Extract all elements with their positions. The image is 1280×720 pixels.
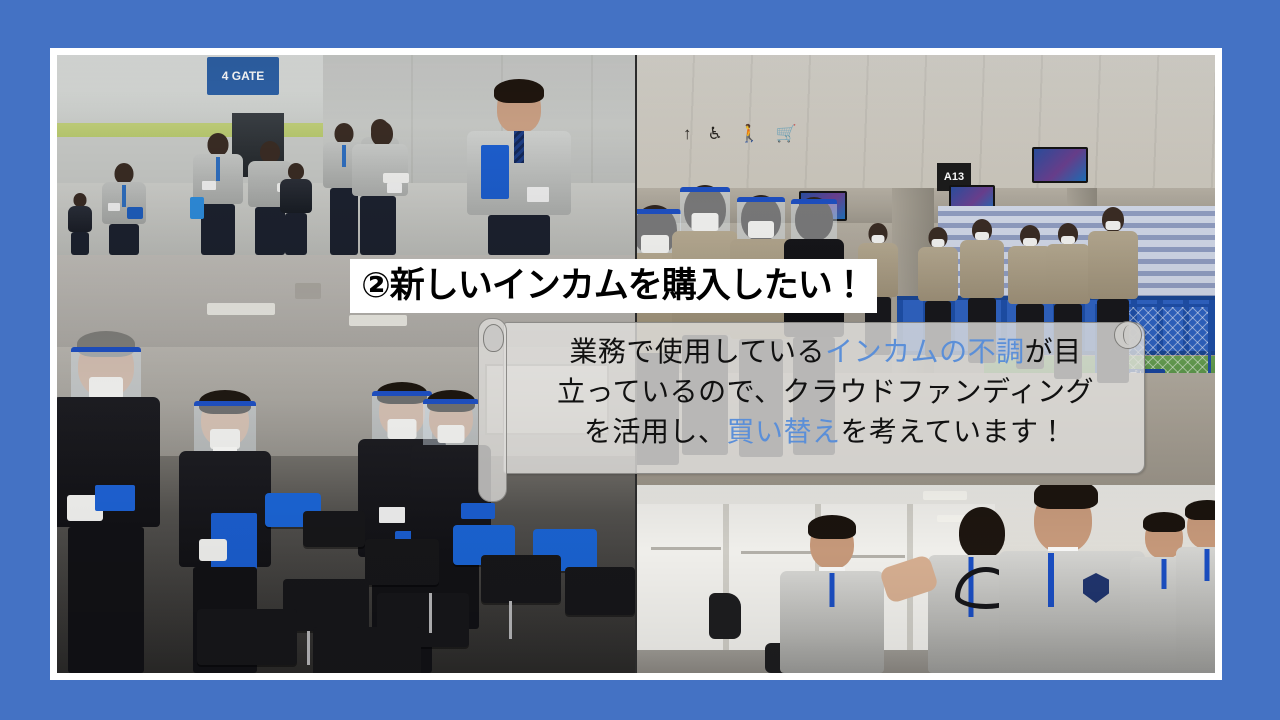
staff-figure	[347, 119, 407, 255]
staff-figure	[279, 163, 313, 255]
display-monitor	[1032, 147, 1088, 183]
body-phrase: 業務で使用している	[569, 335, 825, 368]
chair-leg	[429, 593, 432, 633]
person-icon: 🚶	[739, 125, 760, 142]
scroll-body-text: 業務で使用しているインカムの不調が目 立っているので、クラウドファンディング を…	[524, 332, 1127, 464]
chair	[565, 567, 635, 615]
highlighted-phrase: インカムの不調	[825, 335, 1025, 368]
ceiling-light	[207, 303, 275, 315]
locker-rail	[651, 547, 721, 550]
staff-figure	[67, 193, 93, 255]
chair-leg	[509, 601, 512, 639]
scroll-callout: 業務で使用しているインカムの不調が目 立っているので、クラウドファンディング を…	[478, 318, 1145, 474]
chair	[313, 627, 421, 673]
scene-locker-room	[637, 485, 1215, 673]
hanging-bag	[709, 593, 741, 639]
gate-sign: 4 GATE	[207, 57, 279, 95]
staff-figure-foreground	[997, 485, 1147, 673]
chair	[197, 609, 297, 665]
staff-figure	[101, 163, 147, 255]
chair	[481, 555, 561, 603]
ceiling-light	[349, 315, 407, 326]
staff-figure-foreground	[465, 83, 573, 255]
body-phrase: を考えています！	[840, 415, 1067, 448]
shop-icon: 🛒	[776, 125, 797, 142]
chair	[303, 511, 365, 547]
wayfinding-pictograms: ↑ ♿ 🚶 🛒	[683, 125, 797, 142]
chair-leg	[307, 631, 310, 665]
photo-bottom-right	[637, 485, 1215, 673]
slide-title: ②新しいインカムを購入したい！	[361, 269, 866, 304]
scene-stadium-exterior: 4 GATE	[57, 55, 635, 255]
highlighted-phrase: 買い替え	[726, 415, 840, 448]
scroll-curl-top-left-icon	[483, 324, 504, 352]
photo-top-left: 4 GATE	[57, 55, 635, 255]
chair	[365, 539, 439, 585]
ceiling-light	[295, 283, 321, 299]
restroom-icon: ♿	[708, 125, 723, 142]
staff-figure	[777, 519, 887, 673]
slide-canvas: { "slide": { "background_color": "#4472c…	[0, 0, 1280, 720]
ceiling-light	[923, 491, 967, 500]
title-banner: ②新しいインカムを購入したい！	[350, 259, 877, 313]
staff-figure	[1175, 503, 1215, 673]
staff-figure	[192, 133, 244, 255]
arrow-up-icon: ↑	[683, 125, 692, 142]
chair-rows	[57, 481, 635, 673]
